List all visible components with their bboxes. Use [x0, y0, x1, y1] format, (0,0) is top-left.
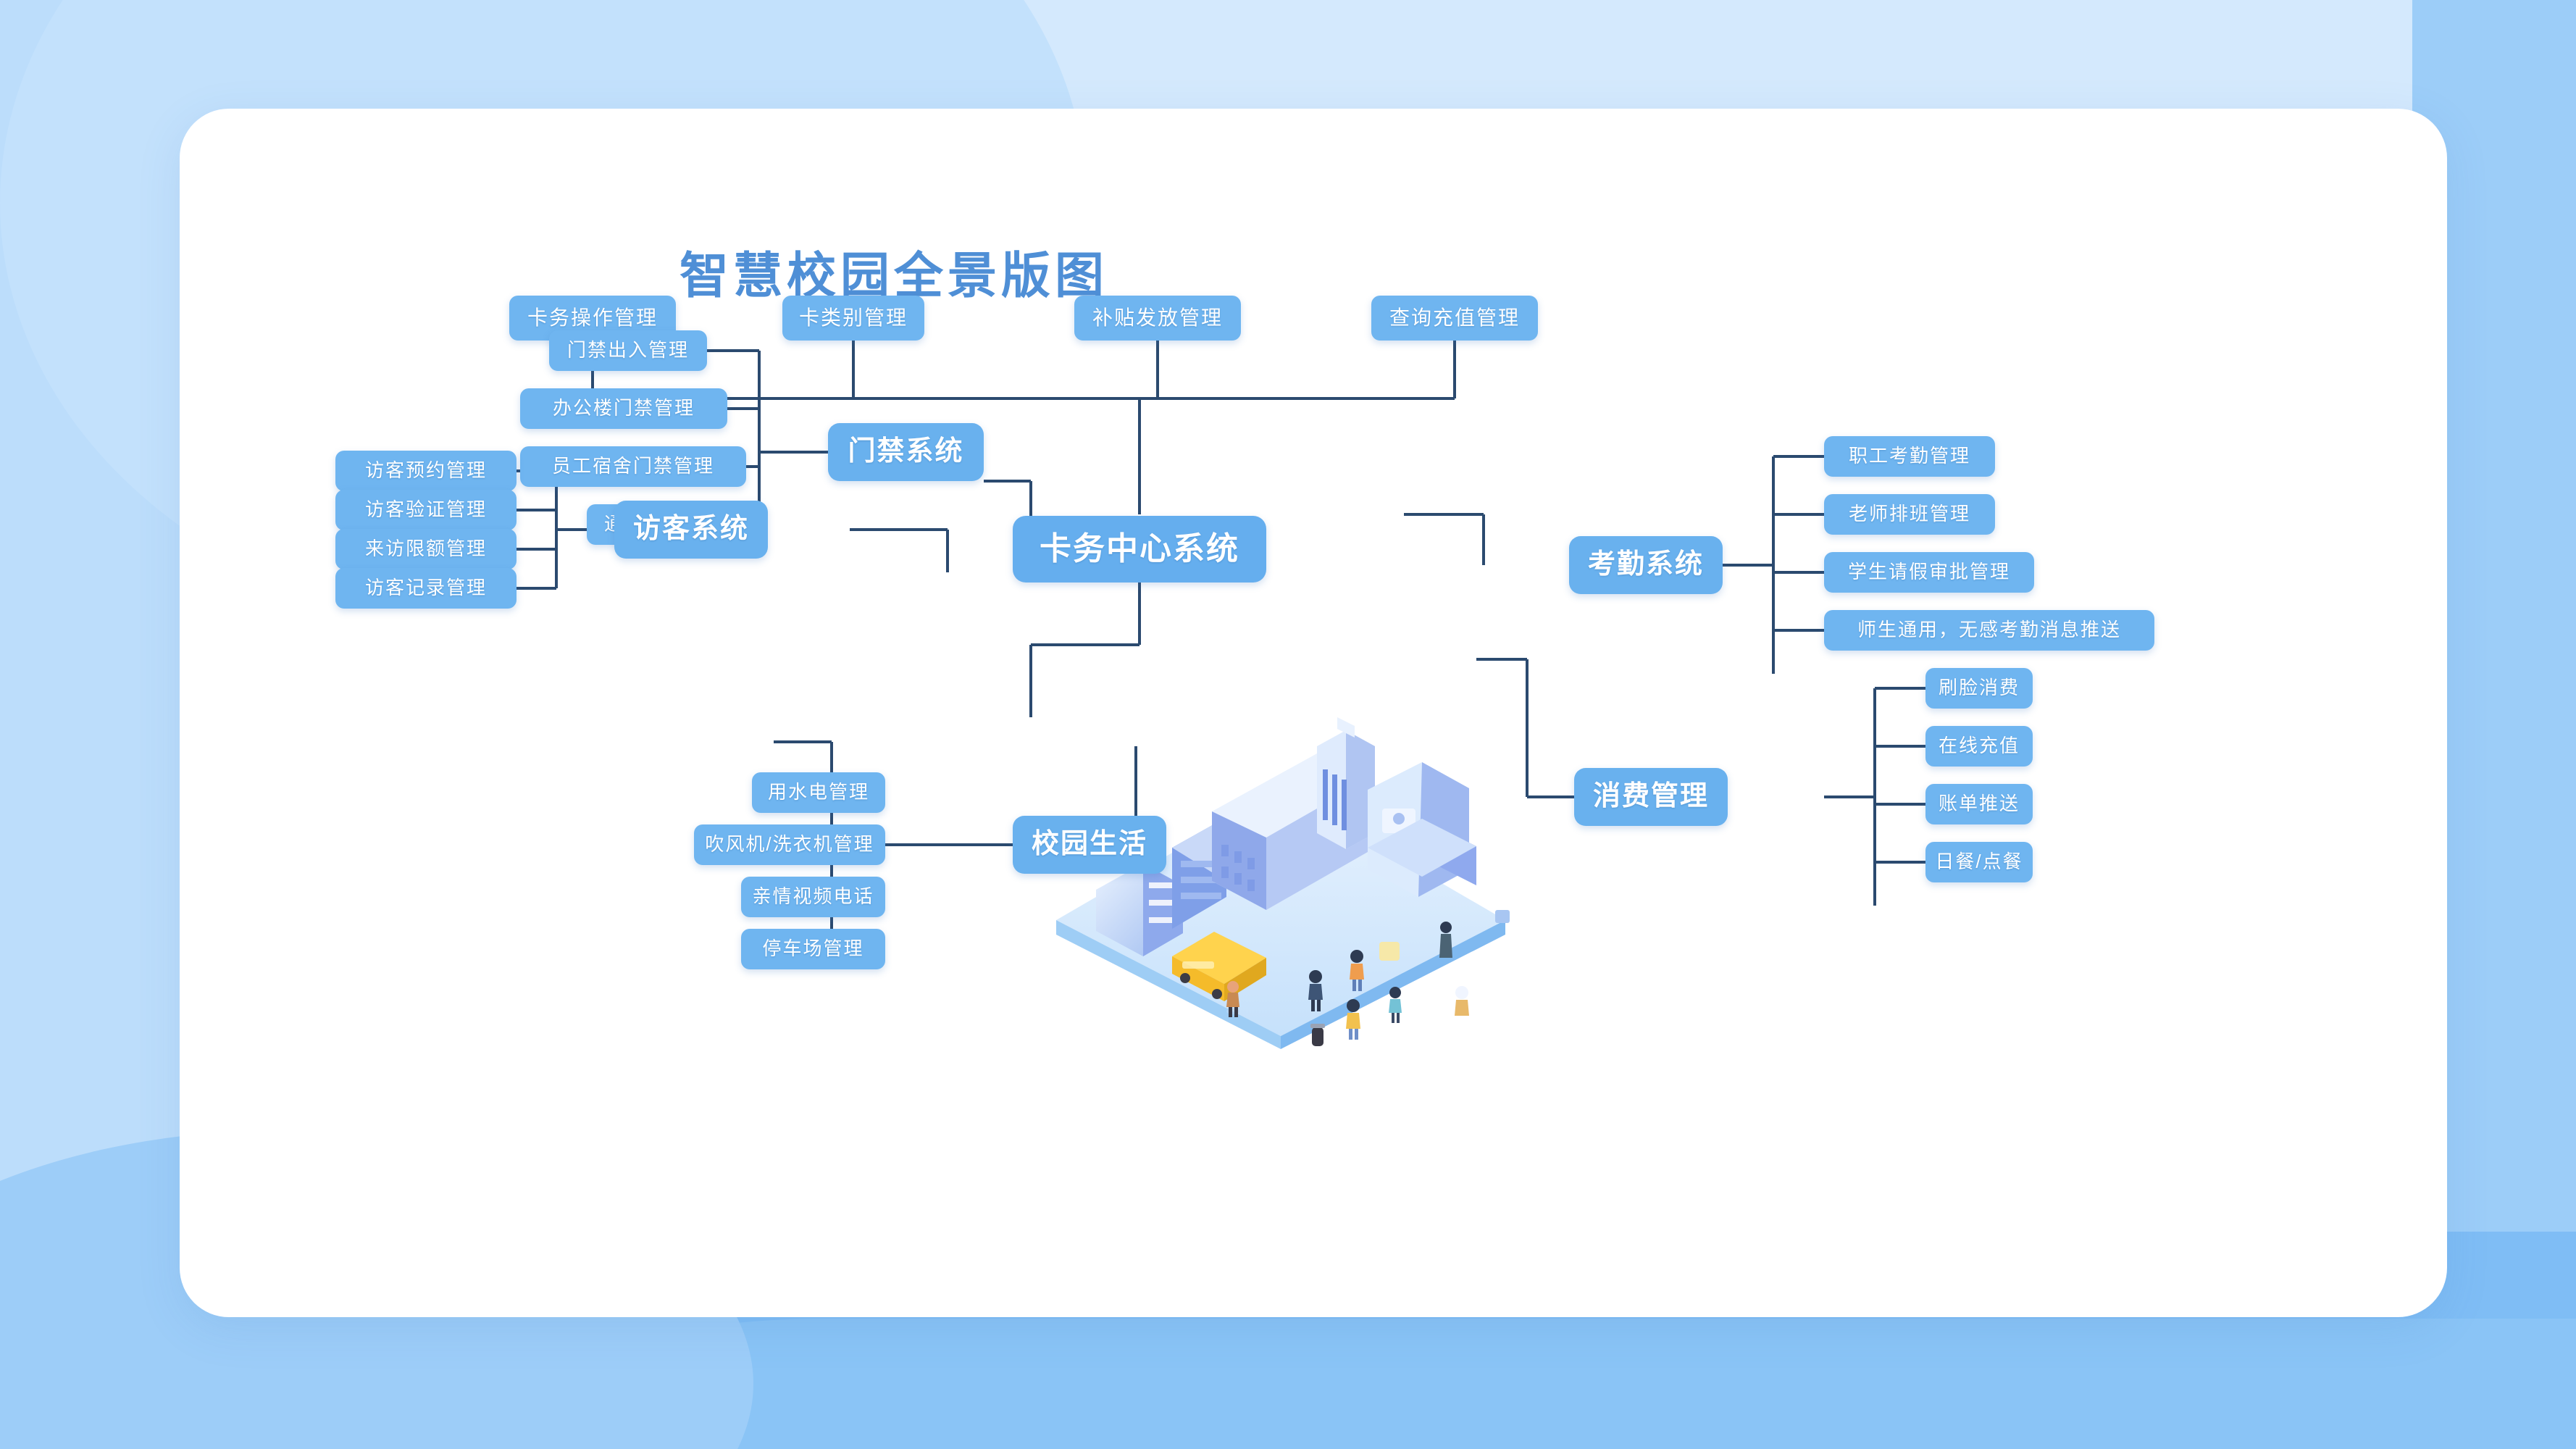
top-node-label: 卡类别管理: [799, 306, 908, 330]
leaf-node-visitor-appointment[interactable]: 访客预约管理: [335, 451, 517, 491]
top-node-query-recharge[interactable]: 查询充值管理: [1371, 296, 1538, 341]
leaf-node-label: 老师排班管理: [1849, 504, 1970, 525]
leaf-node-label: 在线充值: [1939, 735, 2020, 757]
leaf-node-parking-management[interactable]: 停车场管理: [741, 929, 885, 969]
leaf-node-label: 账单推送: [1939, 793, 2020, 815]
leaf-node-dryer-washer[interactable]: 吹风机/洗衣机管理: [694, 824, 885, 865]
leaf-node-label: 吹风机/洗衣机管理: [705, 834, 874, 856]
hub-node-label: 校园生活: [1032, 829, 1147, 861]
hub-node-visitor-system[interactable]: 访客系统: [614, 501, 768, 559]
leaf-node-label: 访客记录管理: [365, 577, 487, 599]
hub-node-label: 访客系统: [633, 514, 749, 546]
leaf-node-label: 用水电管理: [768, 782, 869, 803]
top-node-subsidy-issuance[interactable]: 补贴发放管理: [1074, 296, 1241, 341]
root-node-card-center-system[interactable]: 卡务中心系统: [1013, 516, 1266, 582]
leaf-node-office-building-access[interactable]: 办公楼门禁管理: [520, 388, 727, 429]
leaf-node-label: 刷脸消费: [1939, 677, 2020, 699]
leaf-node-label: 办公楼门禁管理: [553, 398, 695, 419]
leaf-node-label: 来访限额管理: [365, 538, 487, 560]
hub-node-label: 考勤系统: [1588, 549, 1704, 581]
leaf-node-label: 职工考勤管理: [1849, 446, 1970, 467]
leaf-node-label: 师生通用，无感考勤消息推送: [1857, 619, 2121, 641]
leaf-node-visit-quota[interactable]: 来访限额管理: [335, 529, 517, 569]
leaf-node-family-video-call[interactable]: 亲情视频电话: [741, 877, 885, 917]
leaf-node-staff-attendance[interactable]: 职工考勤管理: [1824, 436, 1995, 477]
hub-node-attendance-system[interactable]: 考勤系统: [1569, 536, 1723, 594]
top-node-card-category[interactable]: 卡类别管理: [782, 296, 924, 341]
hub-node-campus-life[interactable]: 校园生活: [1013, 816, 1166, 874]
leaf-node-student-leave-approval[interactable]: 学生请假审批管理: [1824, 552, 2034, 593]
root-node-label: 卡务中心系统: [1040, 531, 1239, 568]
leaf-node-label: 员工宿舍门禁管理: [552, 456, 714, 477]
hub-node-access-control[interactable]: 门禁系统: [828, 423, 984, 481]
leaf-node-label: 亲情视频电话: [753, 886, 874, 908]
leaf-node-staff-dorm-access[interactable]: 员工宿舍门禁管理: [520, 446, 746, 487]
leaf-node-access-entry-exit[interactable]: 门禁出入管理: [549, 330, 707, 371]
top-node-label: 卡务操作管理: [527, 306, 658, 330]
leaf-node-label: 学生请假审批管理: [1848, 561, 2010, 583]
hub-node-consumption-management[interactable]: 消费管理: [1574, 768, 1728, 826]
leaf-node-contactless-attendance-push[interactable]: 师生通用，无感考勤消息推送: [1824, 610, 2154, 651]
top-node-label: 查询充值管理: [1389, 306, 1520, 330]
background-bottom-right-wave: [449, 1319, 2576, 1449]
hub-node-label: 消费管理: [1593, 781, 1709, 813]
leaf-node-bill-push[interactable]: 账单推送: [1925, 784, 2033, 824]
leaf-node-water-electricity[interactable]: 用水电管理: [752, 772, 885, 813]
leaf-node-label: 停车场管理: [762, 938, 863, 960]
leaf-node-label: 访客验证管理: [365, 499, 487, 521]
leaf-node-label: 门禁出入管理: [567, 340, 689, 362]
leaf-node-visitor-verification[interactable]: 访客验证管理: [335, 490, 517, 530]
isometric-smart-campus-illustration: [1027, 703, 1534, 1051]
leaf-node-visitor-records[interactable]: 访客记录管理: [335, 568, 517, 609]
leaf-node-label: 访客预约管理: [365, 460, 487, 482]
leaf-node-online-recharge[interactable]: 在线充值: [1925, 726, 2033, 767]
leaf-node-teacher-scheduling[interactable]: 老师排班管理: [1824, 494, 1995, 535]
leaf-node-meal-ordering[interactable]: 日餐/点餐: [1925, 842, 2033, 882]
leaf-node-face-payment[interactable]: 刷脸消费: [1925, 668, 2033, 709]
top-node-label: 补贴发放管理: [1092, 306, 1223, 330]
hub-node-label: 门禁系统: [848, 436, 963, 468]
diagram-card: 智慧校园全景版图: [180, 109, 2447, 1317]
leaf-node-label: 日餐/点餐: [1935, 851, 2023, 873]
